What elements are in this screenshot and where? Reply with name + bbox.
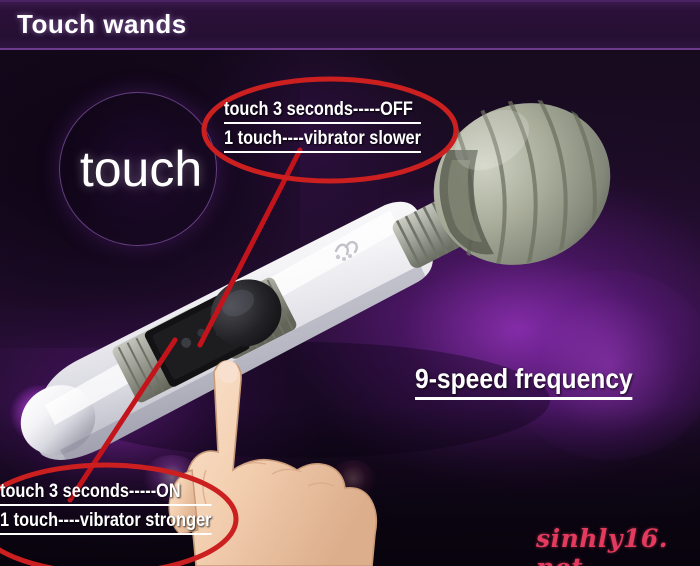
product-infographic: Touch wands touch touch 3 seconds-----OF… bbox=[0, 0, 700, 566]
page-title: Touch wands bbox=[17, 9, 187, 40]
touch-highlight-label: touch bbox=[61, 140, 221, 198]
callout-top-text: touch 3 seconds-----OFF 1 touch----vibra… bbox=[224, 99, 453, 157]
callout-bottom-line1: touch 3 seconds-----ON bbox=[0, 481, 212, 506]
header-bar: Touch wands bbox=[0, 0, 700, 50]
callout-top-line2: 1 touch----vibrator slower bbox=[224, 128, 421, 153]
speed-frequency-label: 9-speed frequency bbox=[415, 363, 633, 400]
callout-bottom-line2: 1 touch----vibrator stronger bbox=[0, 510, 212, 535]
callout-bottom-text: touch 3 seconds-----ON 1 touch----vibrat… bbox=[0, 481, 246, 539]
site-watermark: sinhly16. net bbox=[536, 524, 700, 566]
callout-top-line1: touch 3 seconds-----OFF bbox=[224, 99, 421, 124]
